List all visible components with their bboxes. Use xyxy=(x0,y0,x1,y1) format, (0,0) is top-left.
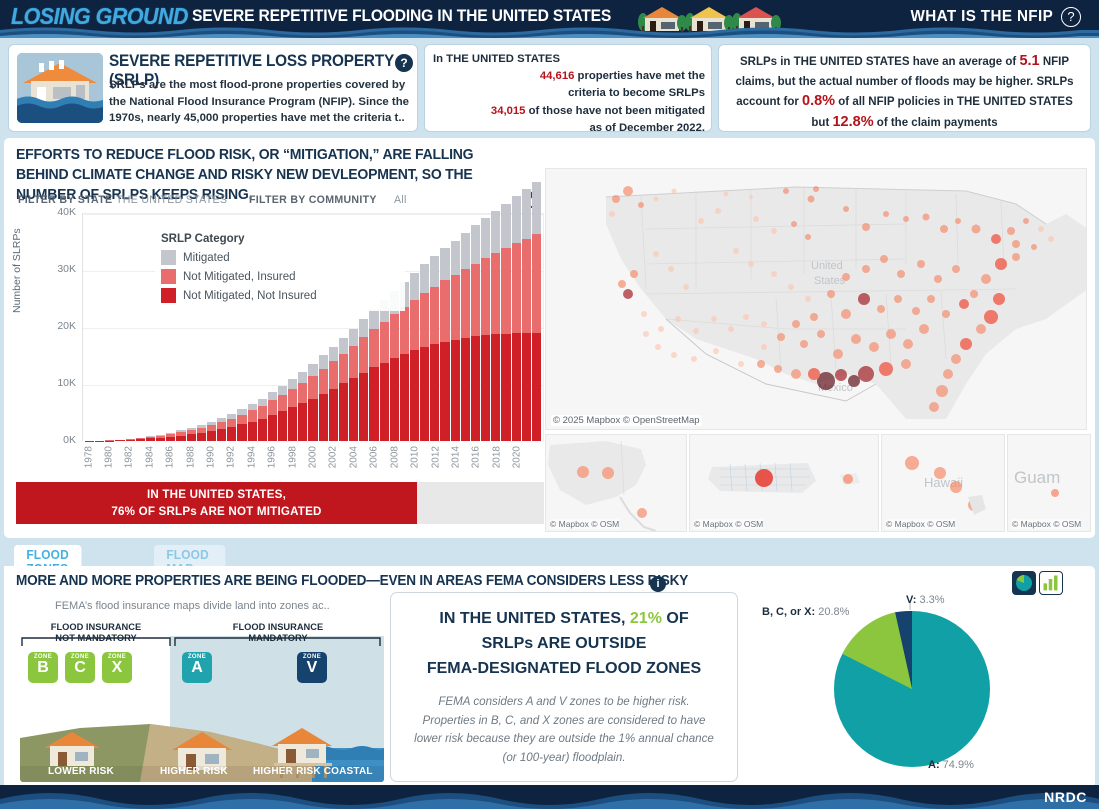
bar-segment xyxy=(349,329,358,346)
claims-avg-value: 5.1 xyxy=(1019,53,1039,69)
filter-community-value[interactable]: All xyxy=(394,194,407,206)
bar-segment xyxy=(197,433,206,441)
bar-segment xyxy=(471,264,480,337)
x-axis-tick-label: 1984 xyxy=(144,446,155,468)
bar-segment xyxy=(512,333,521,441)
inset-map-hawaii[interactable]: Hawaii © Mapbox © OSM xyxy=(881,434,1005,532)
bar-1981[interactable] xyxy=(115,440,124,441)
srlp-card-body: SRLPs are the most flood-prone propertie… xyxy=(109,77,409,127)
bar-2007[interactable] xyxy=(380,300,389,441)
app-footer: NRDC xyxy=(0,785,1099,809)
stat-note: FEMA considers A and V zones to be highe… xyxy=(413,693,715,767)
bar-segment xyxy=(248,422,257,441)
bar-segment xyxy=(410,273,419,300)
pie-bcx-value: 20.8% xyxy=(818,606,849,618)
bar-segment xyxy=(187,434,196,441)
y-axis-tick: 30K xyxy=(36,263,76,275)
bar-segment xyxy=(451,241,460,275)
bar-segment xyxy=(359,337,368,372)
brace-left-line2: NOT MANDATORY xyxy=(55,633,136,643)
map-canvas: United States Mexico xyxy=(546,169,1087,430)
bar-segment xyxy=(319,394,328,441)
bar-2016[interactable] xyxy=(471,225,480,441)
zones-headline: MORE AND MORE PROPERTIES ARE BEING FLOOD… xyxy=(16,573,688,589)
bar-segment xyxy=(501,248,510,334)
risk-label-lower: LOWER RISK xyxy=(48,766,114,777)
pie-a-name: A: xyxy=(928,759,940,771)
bar-segment xyxy=(390,314,399,358)
legend-label: Not Mitigated, Not Insured xyxy=(183,290,317,302)
zone-letter: V xyxy=(297,660,327,675)
map-attribution: © 2025 Mapbox © OpenStreetMap xyxy=(551,415,702,426)
inset-attribution: © Mapbox © OSM xyxy=(886,519,955,529)
bar-1991[interactable] xyxy=(217,418,226,441)
bar-segment xyxy=(430,287,439,345)
bar-segment xyxy=(268,392,277,400)
bar-2005[interactable] xyxy=(359,319,368,441)
brace-left-line1: FLOOD INSURANCE xyxy=(51,622,141,632)
x-axis-tick-label: 1992 xyxy=(226,446,237,468)
nfip-claims-text: SRLPs in THE UNITED STATES have an avera… xyxy=(727,52,1082,133)
bar-segment xyxy=(369,367,378,441)
bar-2018[interactable] xyxy=(491,211,500,441)
x-axis-tick-label: 2004 xyxy=(348,446,359,468)
bar-segment xyxy=(390,358,399,441)
banner-line-1: IN THE UNITED STATES, xyxy=(16,486,417,503)
zone-chip-a[interactable]: ZONE A xyxy=(182,652,212,683)
bar-segment xyxy=(298,403,307,441)
bar-segment xyxy=(349,378,358,441)
inset-map-guam[interactable]: Guam © Mapbox © OSM xyxy=(1007,434,1091,532)
bar-segment xyxy=(288,407,297,441)
pie-v-name: V: xyxy=(906,594,916,606)
bar-1996[interactable] xyxy=(268,392,277,441)
bar-1980[interactable] xyxy=(105,440,114,441)
risk-label-higher-coastal: HIGHER RISK COASTAL xyxy=(253,766,373,777)
stats-line-1: In THE UNITED STATES xyxy=(433,51,705,68)
bar-segment xyxy=(258,406,267,419)
bar-2008[interactable] xyxy=(390,291,399,441)
bar-segment xyxy=(380,363,389,441)
mitigation-banner: IN THE UNITED STATES, 76% OF SRLPs ARE N… xyxy=(16,482,544,524)
stat-percent: 21% xyxy=(630,610,662,627)
pie-label-bcx: B, C, or X: 20.8% xyxy=(762,606,849,618)
bar-1989[interactable] xyxy=(197,425,206,441)
bar-1999[interactable] xyxy=(298,372,307,441)
claims-text-1: SRLPs in THE UNITED STATES have an avera… xyxy=(740,56,1019,68)
tab-flood-map-status[interactable]: FLOOD MAP STATUS xyxy=(154,545,226,567)
inset-attribution: © Mapbox © OSM xyxy=(1012,519,1081,529)
bar-2006[interactable] xyxy=(369,309,378,441)
bar-segment xyxy=(308,376,317,399)
us-community-map[interactable]: United States Mexico xyxy=(545,168,1087,430)
bar-1997[interactable] xyxy=(278,386,287,441)
pie-svg xyxy=(760,592,1090,787)
bar-2013[interactable] xyxy=(440,248,449,441)
bar-segment xyxy=(349,346,358,378)
bar-segment xyxy=(126,440,135,441)
bar-segment xyxy=(308,364,317,376)
app-header: LOSING GROUND SEVERE REPETITIVE FLOODING… xyxy=(0,0,1099,38)
bar-segment xyxy=(440,280,449,341)
bar-segment xyxy=(329,389,338,441)
bar-1982[interactable] xyxy=(126,439,135,441)
bar-segment xyxy=(471,336,480,441)
bar-segment xyxy=(329,361,338,388)
y-axis-tick: 20K xyxy=(36,320,76,332)
bar-segment xyxy=(532,182,541,234)
header-subtitle: SEVERE REPETITIVE FLOODING IN THE UNITED… xyxy=(192,6,611,26)
bar-segment xyxy=(258,399,267,406)
x-axis-tick-label: 2010 xyxy=(410,446,421,468)
zone-letter: X xyxy=(102,660,132,675)
legend-item-not-mitigated-not-insured[interactable]: Not Mitigated, Not Insured xyxy=(161,288,399,303)
zone-letter: A xyxy=(182,660,212,675)
bar-2011[interactable] xyxy=(420,264,429,441)
bar-segment xyxy=(248,410,257,421)
bar-segment xyxy=(359,319,368,338)
bar-1988[interactable] xyxy=(187,428,196,441)
legend-swatch xyxy=(161,269,176,284)
zone-chip-x[interactable]: ZONE X xyxy=(102,652,132,683)
y-axis-title: Number of SLRPs xyxy=(11,228,23,313)
x-axis-tick-label: 1990 xyxy=(206,446,217,468)
bar-segment xyxy=(420,347,429,441)
inset-map-puerto-rico[interactable]: © Mapbox © OSM xyxy=(689,434,879,532)
bar-2000[interactable] xyxy=(308,364,317,441)
bar-segment xyxy=(217,422,226,429)
y-axis-tick: 0K xyxy=(36,434,76,446)
risk-label-higher: HIGHER RISK xyxy=(160,766,228,777)
bar-1993[interactable] xyxy=(237,409,246,441)
tab-flood-zones[interactable]: FLOOD ZONES xyxy=(14,545,81,567)
bar-2001[interactable] xyxy=(319,355,328,441)
bar-segment xyxy=(258,419,267,442)
bar-segment xyxy=(176,436,185,441)
bar-segment xyxy=(339,383,348,441)
us-stats-card: In THE UNITED STATES 44,616 properties h… xyxy=(424,44,712,132)
bar-segment xyxy=(278,395,287,412)
fema-zones-diagram: FLOOD INSURANCE NOT MANDATORY FLOOD INSU… xyxy=(20,620,384,782)
y-axis-tick: 10K xyxy=(36,377,76,389)
srlp-definition-card: SEVERE REPETITIVE LOSS PROPERTY (SRLP) ?… xyxy=(8,44,418,132)
stat-headline: IN THE UNITED STATES, 21% OF SRLPs ARE O… xyxy=(401,606,727,681)
what-is-nfip-link[interactable]: WHAT IS THE NFIP xyxy=(910,8,1053,26)
bar-segment xyxy=(451,275,460,340)
zone-chip-v[interactable]: ZONE V xyxy=(297,652,327,683)
bar-segment xyxy=(339,338,348,354)
bar-segment xyxy=(532,333,541,441)
legend-title: SRLP Category xyxy=(161,233,399,245)
bar-segment xyxy=(440,248,449,280)
bar-2002[interactable] xyxy=(329,347,338,441)
bar-2015[interactable] xyxy=(461,233,470,441)
nrdc-logo: NRDC xyxy=(1044,789,1087,805)
bar-segment xyxy=(369,309,378,329)
bar-2012[interactable] xyxy=(430,256,439,441)
brace-label-left: FLOOD INSURANCE NOT MANDATORY xyxy=(44,622,148,643)
chart-legend: SRLP Category Mitigated Not Mitigated, I… xyxy=(155,229,405,311)
stat-line3: FEMA-DESIGNATED FLOOD ZONES xyxy=(427,660,701,677)
bar-segment xyxy=(491,334,500,441)
bar-1990[interactable] xyxy=(207,422,216,441)
bar-1995[interactable] xyxy=(258,399,267,441)
x-axis-tick-label: 1988 xyxy=(185,446,196,468)
bar-1998[interactable] xyxy=(288,379,297,441)
inset-attribution: © Mapbox © OSM xyxy=(550,519,619,529)
bar-segment xyxy=(440,342,449,441)
brace-right-line2: MANDATORY xyxy=(248,633,307,643)
x-axis-tick-label: 2008 xyxy=(389,446,400,468)
help-icon[interactable]: ? xyxy=(1061,7,1081,27)
x-axis-tick-label: 1998 xyxy=(287,446,298,468)
bar-segment xyxy=(420,264,429,292)
bar-1986[interactable] xyxy=(166,433,175,441)
bar-segment xyxy=(156,438,165,441)
bar-segment xyxy=(136,439,145,441)
bar-segment xyxy=(481,335,490,441)
bar-segment xyxy=(410,300,419,351)
bar-segment xyxy=(278,386,287,395)
bar-segment xyxy=(451,340,460,441)
footer-waves xyxy=(0,785,1099,809)
bar-segment xyxy=(146,438,155,441)
x-axis-tick-label: 2016 xyxy=(471,446,482,468)
bar-segment xyxy=(227,419,236,428)
legend-label: Mitigated xyxy=(183,252,230,264)
bar-segment xyxy=(481,218,490,258)
bar-segment xyxy=(430,344,439,441)
claims-policy-pct: 0.8% xyxy=(802,93,835,109)
svg-text:Guam: Guam xyxy=(1014,468,1060,487)
stats-unmitigated-count: 34,015 xyxy=(491,105,526,117)
inset-attribution: © Mapbox © OSM xyxy=(694,519,763,529)
claims-payment-pct: 12.8% xyxy=(832,114,873,130)
outside-flood-zones-stat: IN THE UNITED STATES, 21% OF SRLPs ARE O… xyxy=(390,592,738,782)
bar-segment xyxy=(237,415,246,425)
bar-segment xyxy=(115,440,124,441)
bar-segment xyxy=(501,334,510,441)
bar-segment xyxy=(207,431,216,441)
bar-2010[interactable] xyxy=(410,273,419,441)
pie-bcx-name: B, C, or X: xyxy=(762,606,815,618)
us-stats-text: In THE UNITED STATES 44,616 properties h… xyxy=(433,51,705,137)
stats-properties-count: 44,616 xyxy=(540,70,575,82)
bar-segment xyxy=(319,369,328,394)
bar-segment xyxy=(329,347,338,362)
stat-line1a: IN THE UNITED STATES, xyxy=(439,610,630,627)
pie-label-v: V: 3.3% xyxy=(906,594,945,606)
bar-segment xyxy=(369,329,378,367)
bar-segment xyxy=(481,258,490,335)
bar-segment xyxy=(268,400,277,415)
brace-label-right: FLOOD INSURANCE MANDATORY xyxy=(220,622,336,643)
bar-1984[interactable] xyxy=(146,436,155,441)
bar-segment xyxy=(298,372,307,383)
legend-item-not-mitigated-insured[interactable]: Not Mitigated, Insured xyxy=(161,269,399,284)
x-axis-tick-label: 1986 xyxy=(165,446,176,468)
bar-2020[interactable] xyxy=(512,196,521,441)
bar-segment xyxy=(522,333,531,441)
bar-1992[interactable] xyxy=(227,414,236,441)
x-axis-tick-label: 2020 xyxy=(512,446,523,468)
nfip-claims-card: SRLPs in THE UNITED STATES have an avera… xyxy=(718,44,1091,132)
pie-label-a: A: 74.9% xyxy=(928,759,974,771)
legend-swatch xyxy=(161,250,176,265)
stats-as-of-date: as of December 2022. xyxy=(433,120,705,137)
bar-segment xyxy=(512,196,521,243)
inset-map-alaska[interactable]: © Mapbox © OSM xyxy=(545,434,687,532)
zone-chip-c[interactable]: ZONE C xyxy=(65,652,95,683)
bar-segment xyxy=(308,399,317,441)
svg-text:United: United xyxy=(811,260,843,272)
bar-2019[interactable] xyxy=(501,204,510,441)
filter-community-label: FILTER BY COMMUNITY xyxy=(249,194,377,206)
bar-segment xyxy=(227,427,236,441)
srlp-growth-chart: Number of SLRPs SRLP Category Mitigated … xyxy=(16,213,544,523)
chart-plot-area: SRLP Category Mitigated Not Mitigated, I… xyxy=(82,213,544,441)
x-axis-tick-label: 2006 xyxy=(369,446,380,468)
bar-segment xyxy=(512,243,521,333)
bar-segment xyxy=(339,354,348,384)
wave-decoration xyxy=(0,25,1099,38)
x-axis-tick-label: 1994 xyxy=(246,446,257,468)
bar-segment xyxy=(380,322,389,363)
bar-segment xyxy=(430,256,439,286)
stats-line-2a: properties have met the xyxy=(578,70,705,82)
brace-right-line1: FLOOD INSURANCE xyxy=(233,622,323,632)
bar-1994[interactable] xyxy=(248,404,257,441)
stat-line2: SRLPs ARE OUTSIDE xyxy=(482,635,647,652)
bar-segment xyxy=(461,269,470,338)
bar-segment xyxy=(288,379,297,389)
bar-segment xyxy=(491,253,500,334)
filter-state-value[interactable]: THE UNITED STATES xyxy=(116,194,227,206)
pie-v-value: 3.3% xyxy=(919,594,944,606)
legend-label: Not Mitigated, Insured xyxy=(183,271,296,283)
bar-segment xyxy=(522,239,531,334)
bar-2014[interactable] xyxy=(451,241,460,442)
bar-segment xyxy=(166,437,175,441)
x-axis-tick-label: 1978 xyxy=(83,446,94,468)
bar-segment xyxy=(359,373,368,441)
stats-line-3: of those have not been mitigated xyxy=(529,105,705,117)
claims-text-4: of the claim payments xyxy=(874,117,998,129)
bar-segment xyxy=(278,411,287,441)
x-axis-tick-label: 1982 xyxy=(124,446,135,468)
zone-letter: C xyxy=(65,660,95,675)
banner-line-2: 76% OF SRLPs ARE NOT MITIGATED xyxy=(16,503,417,520)
bar-segment xyxy=(420,293,429,347)
legend-item-mitigated[interactable]: Mitigated xyxy=(161,250,399,265)
stat-line1b: OF xyxy=(662,610,689,627)
bar-1985[interactable] xyxy=(156,435,165,441)
bar-segment xyxy=(532,234,541,333)
fema-caption: FEMA’s flood insurance maps divide land … xyxy=(55,600,385,612)
bar-2022[interactable] xyxy=(532,182,541,441)
bar-2017[interactable] xyxy=(481,218,490,441)
bar-segment xyxy=(471,225,480,263)
bar-segment xyxy=(288,389,297,407)
mitigation-banner-fill: IN THE UNITED STATES, 76% OF SRLPs ARE N… xyxy=(16,482,417,524)
flooded-house-thumbnail xyxy=(17,53,103,123)
svg-text:States: States xyxy=(814,275,846,287)
x-axis-tick-label: 2000 xyxy=(308,446,319,468)
legend-swatch xyxy=(161,288,176,303)
y-axis-tick: 40K xyxy=(36,206,76,218)
x-axis-tick-label: 2014 xyxy=(450,446,461,468)
pie-a-value: 74.9% xyxy=(943,759,974,771)
bar-segment xyxy=(298,383,307,404)
bar-segment xyxy=(461,233,470,269)
info-icon[interactable]: i xyxy=(650,576,666,592)
bar-segment xyxy=(461,338,470,441)
srlp-help-icon[interactable]: ? xyxy=(395,54,413,72)
flood-zone-pie-chart[interactable]: V: 3.3% B, C, or X: 20.8% A: 74.9% xyxy=(760,592,1090,787)
filter-state-label: FILTER BY STATE xyxy=(18,194,112,206)
bar-segment xyxy=(400,354,409,441)
x-axis-tick-label: 1980 xyxy=(104,446,115,468)
bar-segment xyxy=(268,415,277,441)
bar-segment xyxy=(237,424,246,441)
bar-segment xyxy=(410,350,419,441)
zone-letter: B xyxy=(28,660,58,675)
x-axis-tick-label: 2002 xyxy=(328,446,339,468)
x-axis-tick-label: 1996 xyxy=(267,446,278,468)
bar-segment xyxy=(319,355,328,368)
bar-segment xyxy=(491,211,500,253)
bar-2004[interactable] xyxy=(349,329,358,441)
bar-segment xyxy=(501,204,510,249)
bar-1983[interactable] xyxy=(136,438,145,441)
stats-line-2b: criteria to become SRLPs xyxy=(433,85,705,102)
x-axis-tick-label: 2018 xyxy=(491,446,502,468)
bar-2003[interactable] xyxy=(339,338,348,441)
bar-segment xyxy=(400,307,409,354)
bar-2021[interactable] xyxy=(522,189,531,441)
bar-segment xyxy=(522,189,531,238)
bar-segment xyxy=(217,429,226,441)
x-axis-tick-label: 2012 xyxy=(430,446,441,468)
zone-chip-b[interactable]: ZONE B xyxy=(28,652,58,683)
bar-1987[interactable] xyxy=(176,430,185,441)
